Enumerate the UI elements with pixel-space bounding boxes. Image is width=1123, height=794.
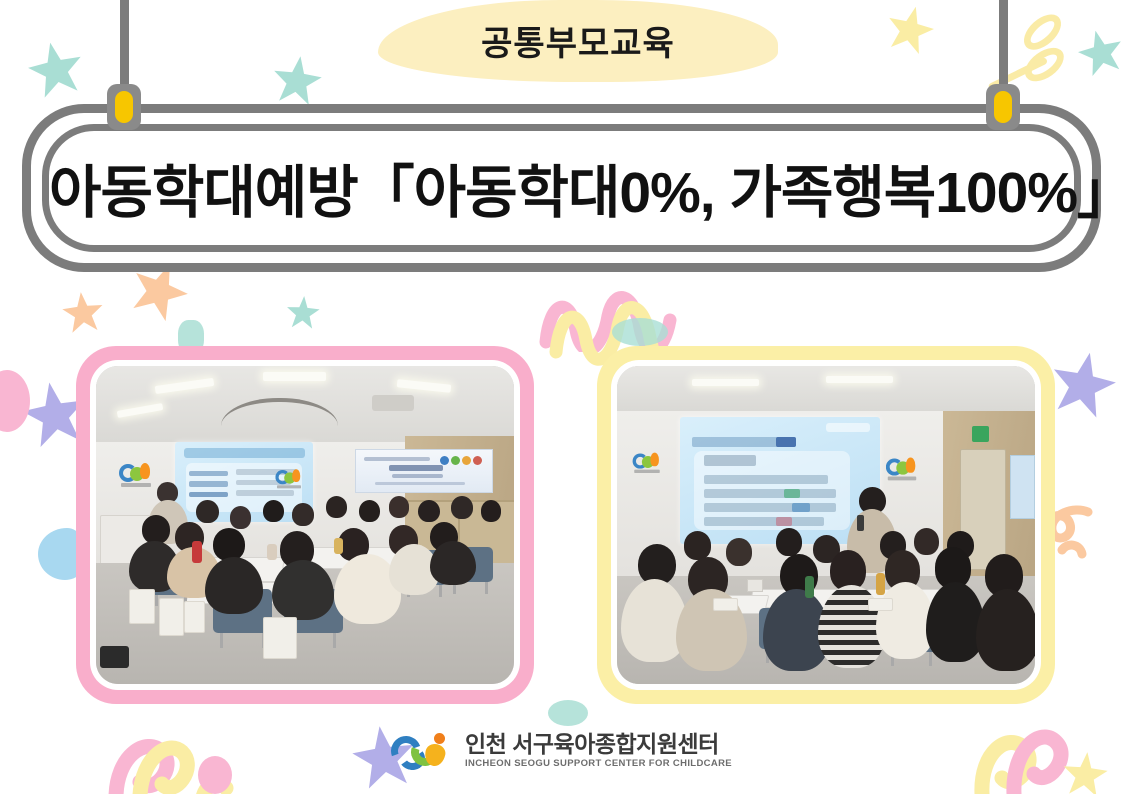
- bottle: [334, 538, 342, 554]
- banner-dot: [462, 456, 471, 465]
- wave-pink-center-icon: [536, 282, 706, 352]
- title-frame-inner: 아동학대예방「아동학대0%, 가족행복100%」: [42, 124, 1081, 252]
- blob-mint-bottomcenter-icon: [548, 700, 588, 726]
- slide-item-row: [704, 475, 828, 484]
- header-badge-label: 공통부모교육: [378, 16, 778, 65]
- photo-left-scene: [96, 366, 514, 684]
- attendee-head: [326, 496, 347, 518]
- paper-bag: [263, 617, 296, 658]
- exit-sign-icon: [972, 426, 989, 442]
- slide-top-brand: [826, 423, 870, 432]
- attendee-head: [389, 496, 410, 518]
- footer-text-block: 인천 서구육아종합지원센터 INCHEON SEOGU SUPPORT CENT…: [465, 733, 732, 769]
- slide-item-highlight: [792, 503, 810, 512]
- banner-dot: [451, 456, 460, 465]
- bottle: [805, 576, 814, 598]
- slide-item-highlight: [776, 517, 792, 526]
- bottle: [876, 573, 885, 595]
- ceiling-light: [692, 379, 759, 386]
- attendee-head: [263, 500, 284, 522]
- tumbler: [192, 541, 202, 563]
- banner-line: [389, 465, 443, 471]
- photo-card-left: [76, 346, 534, 704]
- slide-line: [189, 481, 228, 487]
- paper: [713, 598, 738, 611]
- event-banner: [355, 449, 493, 494]
- attendee-head: [196, 500, 219, 524]
- photo-right-scene: [617, 366, 1035, 684]
- attendee-head: [142, 515, 170, 544]
- cup: [267, 544, 276, 560]
- paper-bag: [129, 589, 154, 624]
- star-mint-topmid-icon: [269, 53, 325, 109]
- title-frame: 아동학대예방「아동학대0%, 가족행복100%」: [22, 104, 1101, 272]
- star-pale-yellow-top-icon: [881, 1, 939, 59]
- banner-line: [375, 482, 465, 485]
- slide-title-badge: [776, 437, 796, 447]
- org-name-en: INCHEON SEOGU SUPPORT CENTER FOR CHILDCA…: [465, 759, 732, 769]
- wall-logo-left-icon: [632, 451, 661, 473]
- logo-orange-head: [434, 733, 445, 744]
- attendee-head: [914, 528, 939, 555]
- attendee-head: [359, 500, 380, 522]
- wall-logo-left-icon: [119, 461, 153, 487]
- slide-header-bar: [184, 448, 305, 458]
- hanger-clip-left-icon: [107, 84, 141, 130]
- hanger-clip-right-icon: [986, 84, 1020, 130]
- star-mint-topleft-icon: [23, 37, 89, 103]
- wave-pink-path: [536, 282, 706, 352]
- blob-pink-topleft-icon: [0, 370, 30, 432]
- attendee-head: [292, 503, 314, 526]
- slide-item-row: [704, 517, 824, 526]
- banner-dot: [473, 456, 482, 465]
- blob-mint-topcenter-icon: [612, 318, 668, 346]
- photo-card-right: [597, 346, 1055, 704]
- star-mint-topright-icon: [1073, 25, 1123, 81]
- attendee-head: [451, 496, 473, 519]
- attendee-body: [976, 589, 1035, 672]
- slide-item-row: [704, 489, 836, 498]
- footer-branding: 인천 서구육아종합지원센터 INCHEON SEOGU SUPPORT CENT…: [0, 730, 1123, 772]
- attendee-head: [213, 528, 245, 561]
- banner-line: [392, 474, 444, 478]
- attendee-head: [726, 538, 753, 566]
- banner-line: [364, 457, 429, 461]
- poster-canvas: 공통부모교육 아동학대예방「아동학대0%, 가족행복100%」: [0, 0, 1123, 794]
- org-name-kr: 인천 서구육아종합지원센터: [465, 733, 732, 756]
- wall-poster: [1010, 455, 1035, 519]
- slide-item-highlight: [784, 489, 800, 498]
- page-title: 아동학대예방「아동학대0%, 가족행복100%」: [49, 147, 1074, 229]
- microphone: [857, 515, 864, 531]
- photo-left-image: [96, 366, 514, 684]
- attendee-head: [684, 531, 712, 560]
- paper-bag: [184, 601, 205, 633]
- banner-dot: [440, 456, 449, 465]
- star-mint-midleft-icon: [285, 295, 321, 331]
- photo-card-right-inner: [611, 360, 1041, 690]
- star-peach-topleft-icon: [60, 290, 106, 336]
- wall-logo-right-icon: [885, 456, 917, 481]
- wall-outlet-icon: [747, 579, 764, 592]
- photo-right-image: [617, 366, 1035, 684]
- paper-bag: [159, 598, 184, 636]
- slide-heading: [704, 455, 756, 466]
- ceiling-light: [826, 376, 893, 383]
- paper: [868, 598, 893, 611]
- star-purple-right-icon: [1044, 346, 1122, 424]
- squiggle-yellow-topright-icon: [1005, 0, 1123, 113]
- slide-line: [236, 490, 294, 496]
- seogu-childcare-logo-icon: [391, 730, 453, 772]
- photo-card-left-inner: [90, 360, 520, 690]
- attendee-head: [230, 506, 252, 529]
- slide-item-row: [704, 503, 836, 512]
- ceiling: [617, 366, 1035, 417]
- attendee-head: [481, 500, 502, 522]
- projector: [372, 395, 414, 411]
- floor-object: [100, 646, 129, 668]
- ceiling-light: [263, 372, 326, 381]
- wall-logo-mid-icon: [275, 467, 302, 488]
- slide-line: [189, 471, 228, 477]
- attendee-head: [418, 500, 440, 523]
- slide-line: [189, 492, 228, 498]
- attendee-head: [776, 528, 802, 555]
